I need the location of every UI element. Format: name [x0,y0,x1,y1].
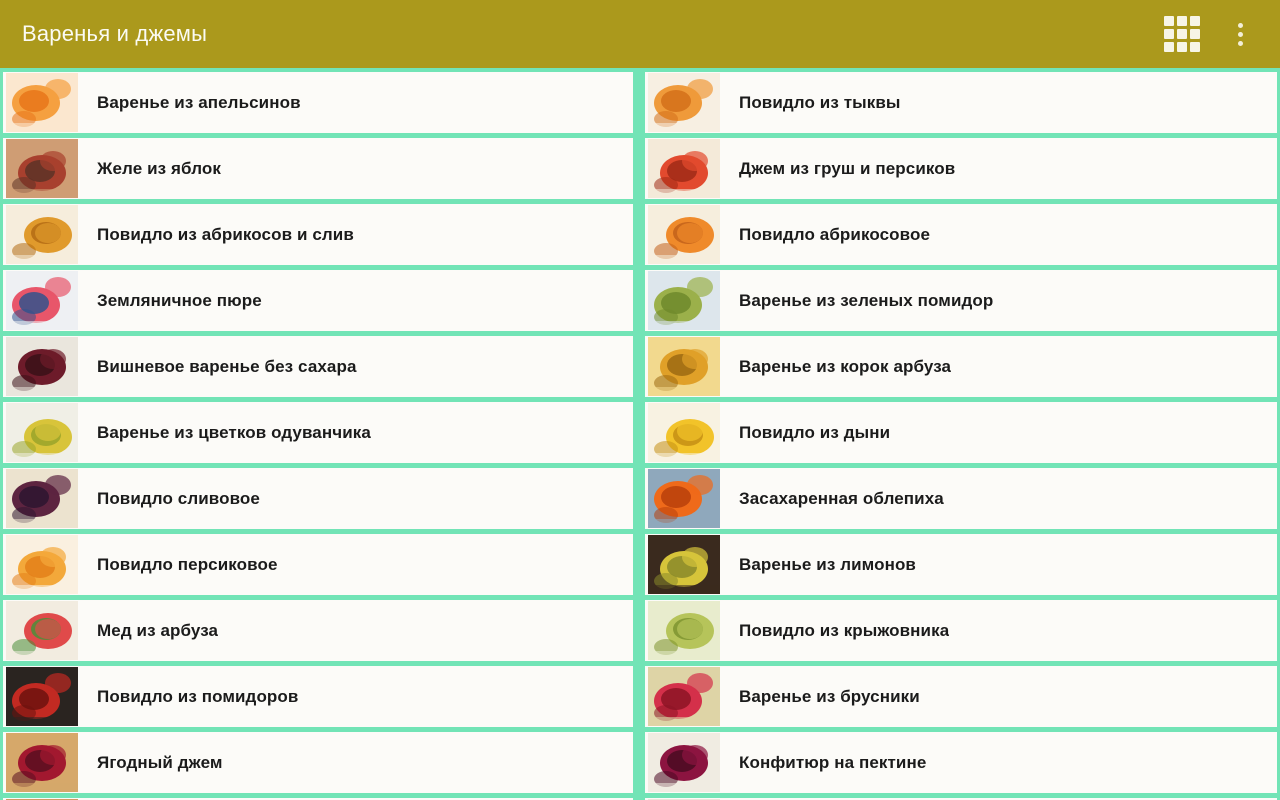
list-item-label: Конфитюр на пектине [739,753,926,773]
grid-view-button[interactable] [1156,8,1208,60]
recipe-list-area[interactable]: Варенье из апельсинов Желе из яблок Пови… [0,68,1280,800]
cherry-jam-toast-thumb [6,337,78,396]
list-item-label: Повидло из крыжовника [739,621,949,641]
list-item-label: Варенье из зеленых помидор [739,291,993,311]
list-item-label: Повидло сливовое [97,489,260,509]
pectin-confiture-toast-thumb [648,733,720,792]
list-item[interactable]: Джем из груш и персиков [645,138,1277,199]
melon-jam-glass-thumb [648,403,720,462]
recipe-list-column-left: Варенье из апельсинов Желе из яблок Пови… [0,68,638,800]
list-item[interactable]: Повидло из дыни [645,402,1277,463]
list-item[interactable]: Вишневое варенье без сахара [3,336,633,397]
list-item[interactable]: Варенье из корок арбуза [645,336,1277,397]
list-item-label: Варенье из апельсинов [97,93,301,113]
grid-view-icon [1164,16,1200,52]
apricot-jam-bread-thumb [648,205,720,264]
green-tomato-jam-thumb [648,271,720,330]
list-item-label: Повидло абрикосовое [739,225,930,245]
list-item-label: Земляничное пюре [97,291,262,311]
list-item-label: Повидло из помидоров [97,687,298,707]
list-item[interactable]: Ягодный джем [3,732,633,793]
list-item[interactable]: Варенье из брусники [645,666,1277,727]
list-item[interactable]: Варенье из лимонов [645,534,1277,595]
recipe-list-column-right: Повидло из тыквы Джем из груш и персиков… [642,68,1280,800]
watermelon-honey-thumb [6,601,78,660]
list-item-label: Повидло персиковое [97,555,278,575]
overflow-menu-button[interactable] [1214,8,1266,60]
list-item[interactable]: Мед из арбуза [3,600,633,661]
list-item-label: Варенье из лимонов [739,555,916,575]
list-item[interactable]: Конфитюр на пектине [645,732,1277,793]
list-item-label: Вишневое варенье без сахара [97,357,357,377]
dandelion-jam-jar-thumb [6,403,78,462]
gooseberry-jam-thumb [648,601,720,660]
list-item-label: Мед из арбуза [97,621,218,641]
list-item-label: Джем из груш и персиков [739,159,955,179]
app-root: Варенья и джемы [0,0,1280,800]
list-item-label: Ягодный джем [97,753,223,773]
lingonberry-jam-thumb [648,667,720,726]
list-item-label: Желе из яблок [97,159,221,179]
pumpkin-jam-jar-thumb [648,73,720,132]
list-item-label: Варенье из цветков одуванчика [97,423,371,443]
list-item-label: Засахаренная облепиха [739,489,944,509]
app-bar-actions [1156,8,1266,60]
pear-peach-jam-thumb [648,139,720,198]
list-item[interactable]: Повидло из абрикосов и слив [3,204,633,265]
list-item-label: Варенье из корок арбуза [739,357,951,377]
strawberry-puree-plate-thumb [6,271,78,330]
list-item[interactable]: Варенье из зеленых помидор [645,270,1277,331]
app-bar: Варенья и джемы [0,0,1280,68]
list-item[interactable]: Повидло сливовое [3,468,633,529]
list-item[interactable]: Варенье из цветков одуванчика [3,402,633,463]
apricot-plum-jar-thumb [6,205,78,264]
list-item[interactable]: Земляничное пюре [3,270,633,331]
more-vert-icon [1238,23,1243,46]
berry-jam-toast-thumb [6,733,78,792]
page-title: Варенья и джемы [22,21,1156,47]
lemon-jam-bottle-thumb [648,535,720,594]
orange-jam-bowl-thumb [6,73,78,132]
list-item[interactable]: Повидло из помидоров [3,666,633,727]
list-item-label: Повидло из абрикосов и слив [97,225,354,245]
watermelon-rind-jam-thumb [648,337,720,396]
list-item[interactable]: Желе из яблок [3,138,633,199]
list-item-label: Повидло из дыни [739,423,890,443]
candied-seabuckthorn-thumb [648,469,720,528]
list-item[interactable]: Повидло абрикосовое [645,204,1277,265]
tomato-jam-pot-thumb [6,667,78,726]
apple-jelly-glass-thumb [6,139,78,198]
peach-jam-spoon-thumb [6,535,78,594]
list-item[interactable]: Повидло из тыквы [645,72,1277,133]
list-item-label: Повидло из тыквы [739,93,901,113]
list-item[interactable]: Повидло из крыжовника [645,600,1277,661]
list-item-label: Варенье из брусники [739,687,920,707]
plum-jam-bowl-thumb [6,469,78,528]
list-item[interactable]: Повидло персиковое [3,534,633,595]
list-item[interactable]: Засахаренная облепиха [645,468,1277,529]
list-item[interactable]: Варенье из апельсинов [3,72,633,133]
